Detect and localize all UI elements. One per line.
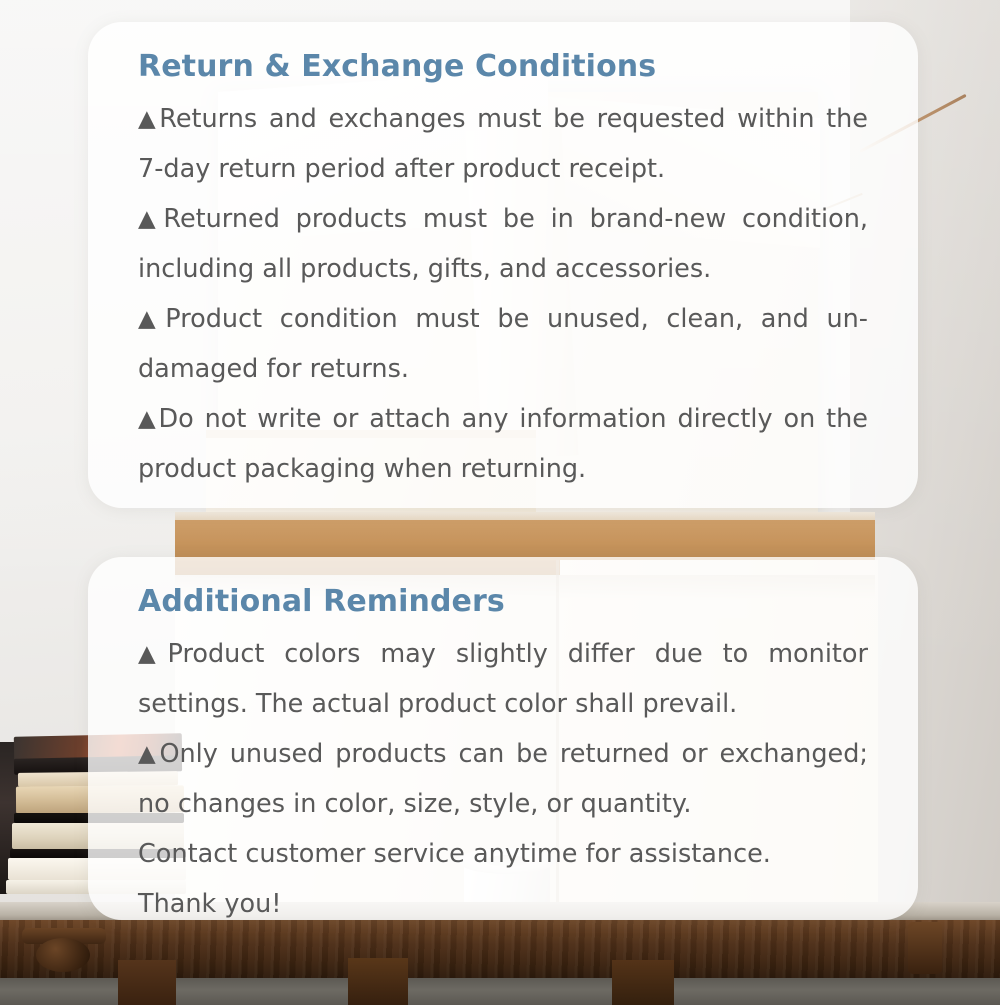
conditions-item-2-text: Returned products must be in brand-new c… (138, 204, 868, 284)
reminders-item-1-text: Product colors may slightly differ due t… (138, 639, 868, 719)
triangle-bullet-icon: ▲ (138, 741, 159, 767)
conditions-item-1: ▲Returns and exchanges must be requested… (138, 94, 868, 194)
additional-reminders-card: Additional Reminders ▲Product colors may… (88, 557, 918, 920)
triangle-bullet-icon: ▲ (138, 641, 168, 667)
triangle-bullet-icon: ▲ (138, 106, 159, 132)
reminders-item-1: ▲Product colors may slightly differ due … (138, 629, 868, 729)
conditions-item-4: ▲Do not write or attach any information … (138, 394, 868, 494)
triangle-bullet-icon: ▲ (138, 406, 159, 432)
conditions-item-3: ▲Product condition must be unused, clean… (138, 294, 868, 394)
triangle-bullet-icon: ▲ (138, 306, 165, 332)
reminders-item-2: ▲Only unused products can be returned or… (138, 729, 868, 829)
return-exchange-conditions-card: Return & Exchange Conditions ▲Returns an… (88, 22, 918, 508)
reminders-item-2-text: Only unused products can be returned or … (138, 739, 868, 819)
conditions-item-2: ▲Returned products must be in brand-new … (138, 194, 868, 294)
conditions-title: Return & Exchange Conditions (138, 48, 868, 86)
reminders-title: Additional Reminders (138, 583, 868, 621)
conditions-item-4-text: Do not write or attach any information d… (138, 404, 868, 484)
conditions-item-3-text: Product condition must be unused, clean,… (138, 304, 868, 384)
reminders-closing-contact: Contact customer service anytime for ass… (138, 829, 868, 879)
reminders-closing-thanks: Thank you! (138, 879, 868, 929)
triangle-bullet-icon: ▲ (138, 206, 163, 232)
conditions-item-1-text: Returns and exchanges must be requested … (138, 104, 868, 184)
